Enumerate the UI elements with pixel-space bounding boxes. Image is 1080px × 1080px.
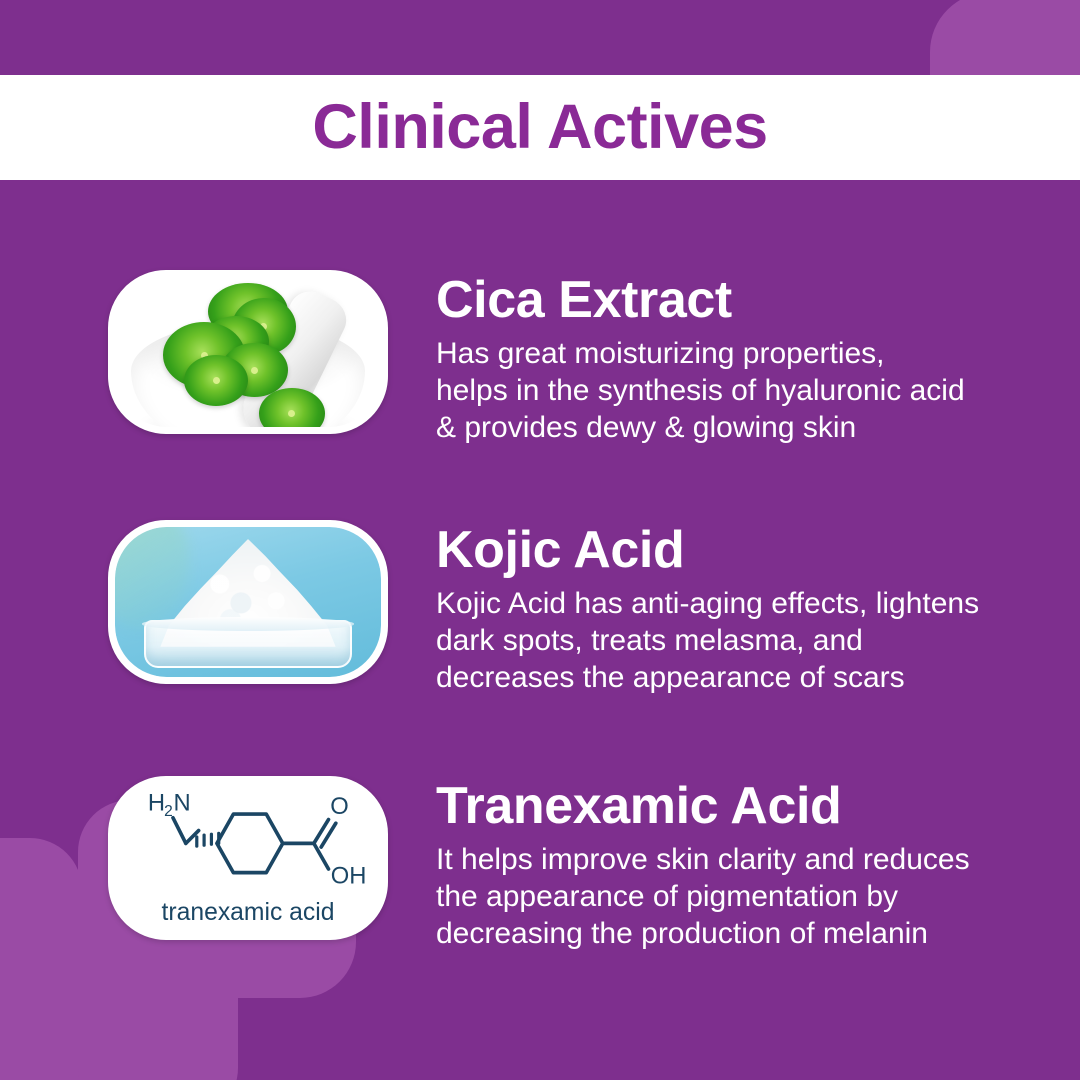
clover-petal-bottom-left-c xyxy=(0,960,82,1080)
tranexamic-description-line: It helps improve skin clarity and reduce… xyxy=(436,841,1036,878)
tranexamic-description-line: the appearance of pigmentation by xyxy=(436,878,1036,915)
amine-n-label: N xyxy=(174,789,191,816)
infographic-page: Clinical Actives xyxy=(0,0,1080,1080)
glass-dish-rim xyxy=(142,617,355,631)
clover-petal-top-right-a xyxy=(1005,0,1080,68)
cica-thumbnail-wrap xyxy=(108,270,388,434)
title-band: Clinical Actives xyxy=(0,75,1080,180)
tranexamic-text-column: Tranexamic Acid It helps improve skin cl… xyxy=(436,776,1036,953)
active-item-tranexamic: H 2 N O OH tranexamic acid Tranexamic Ac… xyxy=(0,776,1080,976)
cica-description-line: Has great moisturizing properties, xyxy=(436,335,1036,372)
hydroxyl-label: OH xyxy=(331,863,367,890)
cica-description-line: & provides dewy & glowing skin xyxy=(436,409,1036,446)
tranexamic-heading: Tranexamic Acid xyxy=(436,780,1036,833)
tranexamic-acid-structure-icon: H 2 N O OH tranexamic acid xyxy=(115,783,381,933)
tranexamic-description-line: decreasing the production of melanin xyxy=(436,915,1036,952)
kojic-text-column: Kojic Acid Kojic Acid has anti-aging eff… xyxy=(436,520,1036,697)
clover-petal-bottom-left-d xyxy=(78,960,238,1080)
tranexamic-image: H 2 N O OH tranexamic acid xyxy=(115,783,381,933)
kojic-description-line: dark spots, treats melasma, and xyxy=(436,622,1036,659)
cica-heading: Cica Extract xyxy=(436,274,1036,327)
cica-image xyxy=(115,277,381,427)
cica-description-line: helps in the synthesis of hyaluronic aci… xyxy=(436,372,1036,409)
amine-subscript-label: 2 xyxy=(164,803,173,820)
cica-description: Has great moisturizing properties, helps… xyxy=(436,335,1036,447)
kojic-description: Kojic Acid has anti-aging effects, light… xyxy=(436,585,1036,697)
kojic-description-line: decreases the appearance of scars xyxy=(436,659,1036,696)
cica-thumbnail-card xyxy=(108,270,388,434)
cica-text-column: Cica Extract Has great moisturizing prop… xyxy=(436,270,1036,447)
tranexamic-thumbnail-wrap: H 2 N O OH tranexamic acid xyxy=(108,776,388,940)
amine-h-label: H xyxy=(148,789,165,816)
active-item-kojic: Kojic Acid Kojic Acid has anti-aging eff… xyxy=(0,520,1080,720)
page-title: Clinical Actives xyxy=(312,96,767,159)
kojic-thumbnail-card xyxy=(108,520,388,684)
kojic-image xyxy=(115,527,381,677)
kojic-heading: Kojic Acid xyxy=(436,524,1036,577)
active-item-cica: Cica Extract Has great moisturizing prop… xyxy=(0,270,1080,470)
tranexamic-description: It helps improve skin clarity and reduce… xyxy=(436,841,1036,953)
centella-leaf-icon xyxy=(184,355,248,406)
tranexamic-thumbnail-card: H 2 N O OH tranexamic acid xyxy=(108,776,388,940)
kojic-description-line: Kojic Acid has anti-aging effects, light… xyxy=(436,585,1036,622)
carbonyl-oxygen-label: O xyxy=(330,793,349,820)
structure-caption: tranexamic acid xyxy=(162,899,335,926)
kojic-thumbnail-wrap xyxy=(108,520,388,684)
